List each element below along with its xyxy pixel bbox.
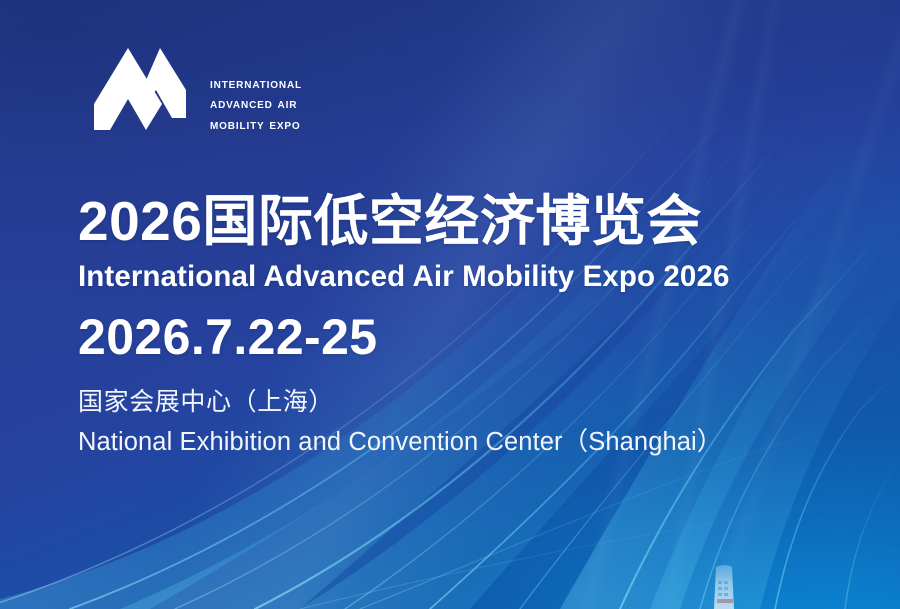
expo-logo-lockup: International Advanced Air Mobility Expo <box>88 42 302 146</box>
logo-wordmark-line-2: Advanced Air <box>210 97 302 112</box>
mountain-chevron-m-logo-icon <box>88 42 192 146</box>
logo-wordmark-line-1: International <box>210 77 302 92</box>
expo-key-visual-poster: International Advanced Air Mobility Expo… <box>0 0 900 609</box>
event-title-english: International Advanced Air Mobility Expo… <box>78 261 868 293</box>
tower-building-silhouette-icon <box>705 563 743 609</box>
venue-name-chinese: 国家会展中心（上海） <box>78 389 868 417</box>
logo-wordmark-line-3: Mobility Expo <box>210 118 302 133</box>
event-title-chinese: 2026国际低空经济博览会 <box>78 192 868 250</box>
logo-wordmark: International Advanced Air Mobility Expo <box>210 55 302 132</box>
headline-block: 2026国际低空经济博览会 International Advanced Air… <box>78 192 868 456</box>
venue-name-english: National Exhibition and Convention Cente… <box>78 428 868 456</box>
event-dates: 2026.7.22-25 <box>78 311 868 363</box>
